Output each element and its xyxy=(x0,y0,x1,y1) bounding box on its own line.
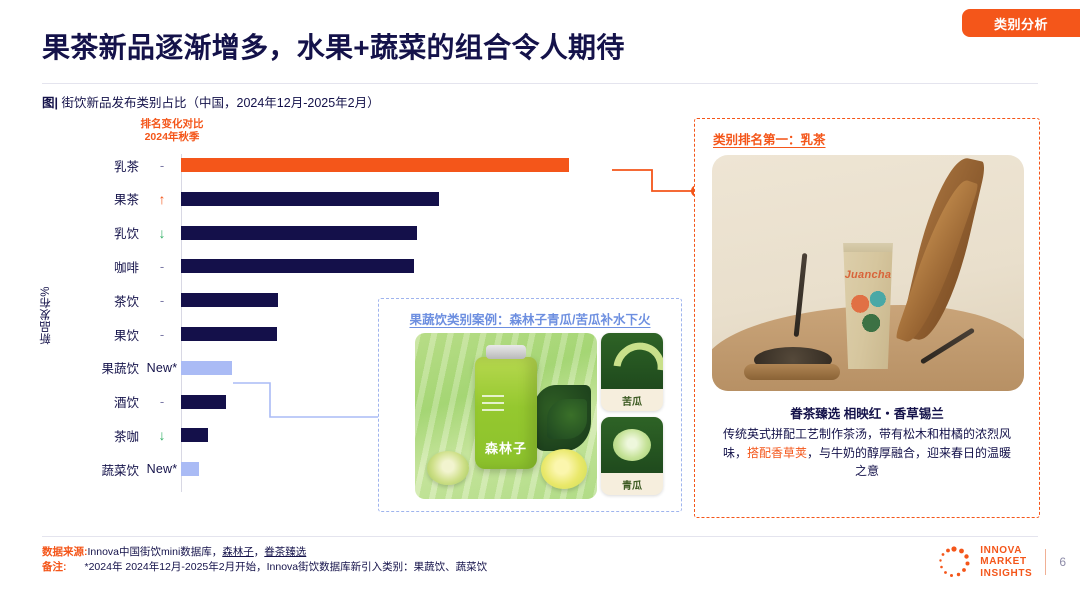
logo-line-3: INSIGHTS xyxy=(980,568,1032,579)
innova-wordmark: INNOVA MARKET INSIGHTS xyxy=(980,545,1032,579)
rank-change-indicator: - xyxy=(143,159,181,172)
milktea-product-name: 眷茶臻选 相映红・香草锡兰 xyxy=(695,403,1039,422)
bar-category-label: 果饮 xyxy=(42,325,143,344)
category-badge: 类别分析 xyxy=(962,9,1080,37)
bar xyxy=(181,226,417,240)
bar xyxy=(181,428,208,442)
table-row: 乳茶- xyxy=(42,154,662,176)
bitter-melon-icon xyxy=(601,333,663,389)
rank-header-line1: 排名变化对比 xyxy=(120,118,224,131)
rank-header-line2: 2024年秋季 xyxy=(120,131,224,144)
bar-category-label: 茶咖 xyxy=(42,426,143,445)
cup-lid-icon xyxy=(829,232,907,252)
bar xyxy=(181,361,232,375)
bar-category-label: 蔬菜饮 xyxy=(42,460,143,479)
bar xyxy=(181,192,439,206)
subtitle-prefix: 图 xyxy=(42,96,55,110)
rank-change-header: 排名变化对比 2024年秋季 xyxy=(120,118,224,144)
logo-line-2: MARKET xyxy=(980,556,1032,567)
note-line: 备注:*2024年 2024年12月-2025年2月开始，Innova街饮数据库… xyxy=(42,560,487,575)
source-comma: ， xyxy=(254,546,265,558)
page-title: 果茶新品逐渐增多，水果+蔬菜的组合令人期待 xyxy=(42,32,942,64)
bitter-melon-slice-icon xyxy=(427,451,469,485)
rank-change-indicator: New* xyxy=(143,362,181,375)
bar-category-label: 果蔬饮 xyxy=(42,358,143,377)
page-number: 6 xyxy=(1059,555,1066,569)
tea-leaves-icon xyxy=(754,347,832,373)
bar xyxy=(181,158,569,172)
bar-track xyxy=(181,222,662,244)
fruitveg-callout-panel: 果蔬饮类别案例：森林子青瓜/苦瓜补水下火 森林子 苦瓜 青瓜 xyxy=(378,298,682,512)
milktea-panel-title: 类别排名第一：乳茶 xyxy=(713,129,826,148)
fruitveg-ingredient-cards: 苦瓜 青瓜 xyxy=(601,333,663,501)
milktea-callout-panel: 类别排名第一：乳茶 Juancha 眷茶臻选 相映红・香草锡兰 传统英式拼配工艺… xyxy=(694,118,1040,518)
source-line: 数据来源:Innova中国街饮mini数据库，森林子，眷茶臻选 xyxy=(42,545,487,560)
footer-divider xyxy=(42,536,1038,537)
bar xyxy=(181,327,277,341)
cup-artwork xyxy=(847,287,891,335)
header-divider xyxy=(42,83,1038,84)
footer-notes: 数据来源:Innova中国街饮mini数据库，森林子，眷茶臻选 备注:*2024… xyxy=(42,545,487,575)
source-label: 数据来源: xyxy=(42,546,88,558)
bottle-label-lines xyxy=(482,395,504,421)
bar-category-label: 酒饮 xyxy=(42,392,143,411)
logo-line-1: INNOVA xyxy=(980,545,1032,556)
lemon-half-icon xyxy=(541,449,587,489)
subtitle-text: 街饮新品发布类别占比（中国，2024年12月-2025年2月） xyxy=(62,96,380,110)
table-row: 果茶↑ xyxy=(42,188,662,210)
bar xyxy=(181,462,199,476)
table-row: 咖啡- xyxy=(42,255,662,277)
bar-track xyxy=(181,154,662,176)
cup-brand-label: Juancha xyxy=(837,269,899,281)
logo-divider xyxy=(1045,549,1046,575)
rank-change-indicator: - xyxy=(143,328,181,341)
slide: 类别分析 果茶新品逐渐增多，水果+蔬菜的组合令人期待 图| 街饮新品发布类别占比… xyxy=(0,0,1080,608)
rank-change-indicator: ↓ xyxy=(143,226,181,240)
source-text: Innova中国街饮mini数据库， xyxy=(88,546,223,558)
rank-change-indicator: ↑ xyxy=(143,192,181,206)
innova-mark-icon xyxy=(937,545,971,579)
fruitveg-panel-title: 果蔬饮类别案例：森林子青瓜/苦瓜补水下火 xyxy=(379,309,681,328)
cucumber-icon xyxy=(601,417,663,473)
chart-subtitle: 图| 街饮新品发布类别占比（中国，2024年12月-2025年2月） xyxy=(42,92,380,111)
note-text: *2024年 2024年12月-2025年2月开始，Innova街饮数据库新引入… xyxy=(85,561,488,573)
rank-change-indicator: - xyxy=(143,260,181,273)
bar-category-label: 咖啡 xyxy=(42,257,143,276)
bar-category-label: 乳饮 xyxy=(42,223,143,242)
list-item: 苦瓜 xyxy=(601,333,663,411)
bar-track xyxy=(181,188,662,210)
bar xyxy=(181,259,414,273)
bar-category-label: 果茶 xyxy=(42,189,143,208)
brand-logo: INNOVA MARKET INSIGHTS 6 xyxy=(937,545,1066,579)
fruitveg-product-photo: 森林子 xyxy=(415,333,597,499)
table-row: 乳饮↓ xyxy=(42,222,662,244)
bar-track xyxy=(181,255,662,277)
source-link-senlinzi[interactable]: 森林子 xyxy=(222,546,254,558)
milktea-product-photo: Juancha xyxy=(712,155,1024,391)
desc-part2: ，与牛奶的醇厚融合，迎来春日的温暖之意 xyxy=(807,446,1011,479)
bottle-brand-label: 森林子 xyxy=(475,438,537,457)
bar xyxy=(181,293,278,307)
milktea-description: 传统英式拼配工艺制作茶汤，带有松木和柑橘的浓烈风味，搭配香草荚，与牛奶的醇厚融合… xyxy=(717,425,1017,481)
rank-change-indicator: ↓ xyxy=(143,428,181,442)
bar-category-label: 乳茶 xyxy=(42,156,143,175)
note-label: 备注: xyxy=(42,561,67,573)
rank-change-indicator: - xyxy=(143,395,181,408)
ingredient-caption: 青瓜 xyxy=(601,473,663,495)
bottle-cap-icon xyxy=(486,345,526,359)
source-link-juancha[interactable]: 眷茶臻选 xyxy=(264,546,306,558)
desc-highlight: 搭配香草荚 xyxy=(747,446,807,460)
bar xyxy=(181,395,226,409)
kale-icon xyxy=(533,385,591,451)
rank-change-indicator: - xyxy=(143,294,181,307)
juice-bottle-icon: 森林子 xyxy=(475,357,537,469)
rank-change-indicator: New* xyxy=(143,463,181,476)
bar-category-label: 茶饮 xyxy=(42,291,143,310)
list-item: 青瓜 xyxy=(601,417,663,495)
subtitle-separator: | xyxy=(55,96,59,110)
